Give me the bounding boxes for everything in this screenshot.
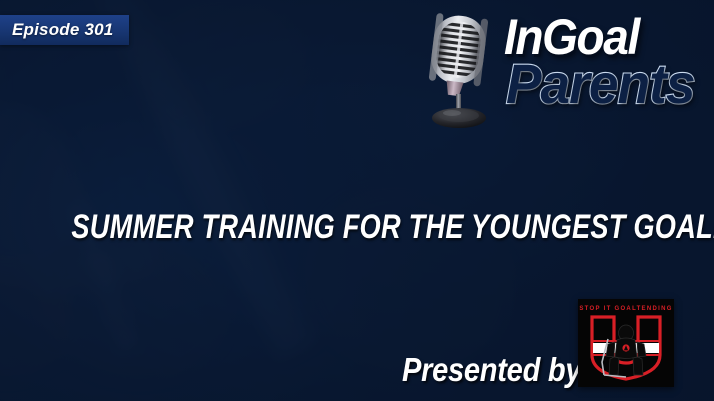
episode-badge-label: Episode 301	[12, 20, 113, 40]
goalie-silhouette-icon	[584, 315, 668, 381]
sponsor-logo: STOP IT GOALTENDING	[578, 299, 674, 387]
sponsor-tagline: STOP IT GOALTENDING	[578, 306, 674, 312]
presented-by-label: Presented by	[402, 352, 581, 388]
brand-lockup: InGoal Parents	[412, 6, 702, 132]
brand-wordmark: InGoal Parents	[504, 8, 702, 132]
episode-title: SUMMER TRAINING FOR THE YOUNGEST GOALIES	[71, 207, 642, 247]
retro-microphone-icon	[422, 12, 498, 130]
video-title-card: WARRIOR Episode 301	[0, 0, 714, 401]
brand-line-parents: Parents	[506, 56, 695, 112]
episode-badge: Episode 301	[0, 15, 129, 45]
